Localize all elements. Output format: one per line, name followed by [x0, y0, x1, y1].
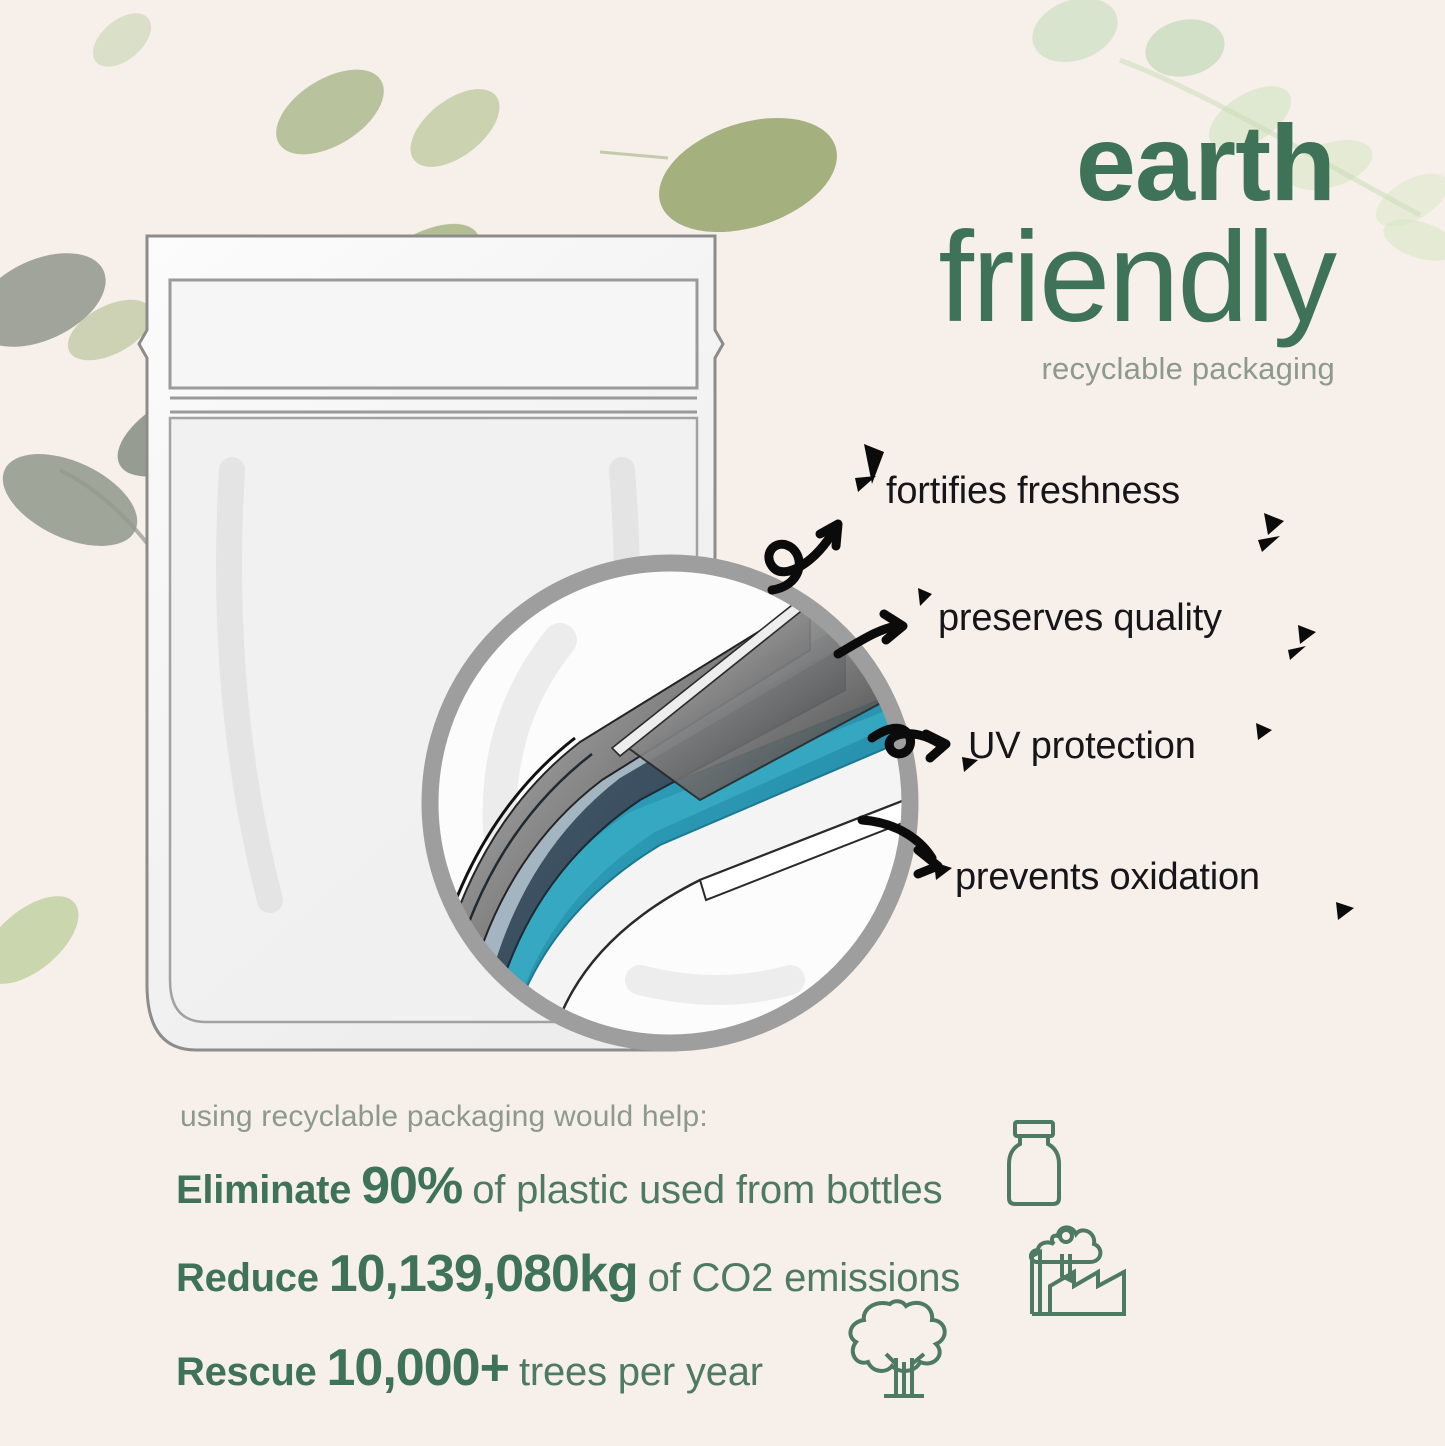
- headline-block: earth friendly recyclable packaging: [575, 112, 1335, 386]
- tree-icon: [838, 1292, 970, 1412]
- headline-line-2: friendly: [575, 217, 1335, 339]
- stat-verb: Rescue: [176, 1350, 317, 1395]
- headline-line-1: earth: [575, 112, 1335, 215]
- stat-verb: Reduce: [176, 1256, 319, 1301]
- feature-label-fortifies-freshness: fortifies freshness: [886, 470, 1180, 513]
- headline-subtitle: recyclable packaging: [575, 352, 1335, 386]
- stat-value: 10,139,080kg: [329, 1244, 638, 1304]
- stat-tail: of plastic used from bottles: [472, 1168, 942, 1213]
- feature-label-uv-protection: UV protection: [968, 725, 1196, 768]
- feature-label-prevents-oxidation: prevents oxidation: [955, 856, 1260, 899]
- feature-label-preserves-quality: preserves quality: [938, 597, 1222, 640]
- stat-value: 10,000+: [327, 1338, 509, 1398]
- stat-tail: trees per year: [519, 1350, 763, 1395]
- stat-row: Eliminate 90% of plastic used from bottl…: [176, 1156, 1296, 1216]
- factory-icon: [1020, 1210, 1130, 1316]
- stat-row: Rescue 10,000+ trees per year: [176, 1338, 1296, 1398]
- poster-canvas: earth friendly recyclable packaging fort…: [0, 0, 1445, 1446]
- stat-value: 90%: [361, 1156, 462, 1216]
- stat-verb: Eliminate: [176, 1168, 351, 1213]
- bottle-icon: [995, 1118, 1073, 1208]
- stats-intro: using recyclable packaging would help:: [180, 1100, 1296, 1134]
